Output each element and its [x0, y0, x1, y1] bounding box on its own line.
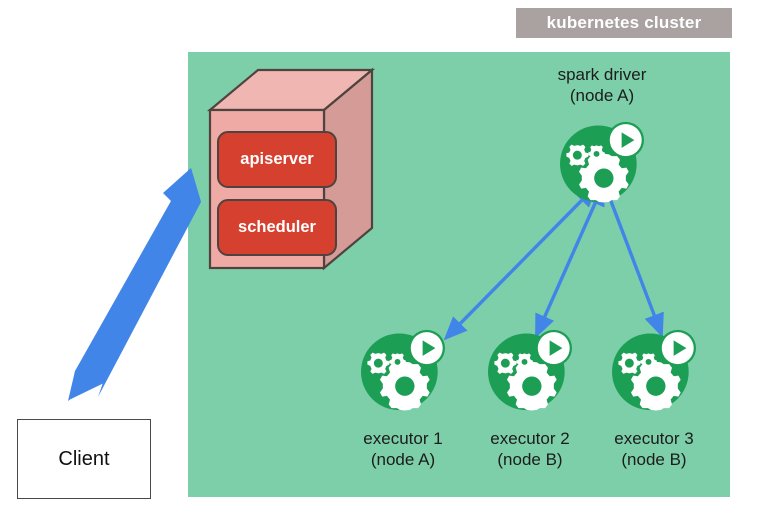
executor-2-pod[interactable]: [484, 328, 576, 412]
executor-1-pod[interactable]: [357, 328, 449, 412]
gears-play-pod-icon: [608, 328, 700, 412]
gears-play-pod-icon: [357, 328, 449, 412]
executor-2-node: (node B): [497, 450, 562, 469]
executor-3-name: executor 3: [614, 429, 693, 448]
executor-1-caption: executor 1(node A): [331, 428, 475, 470]
spark-submit-arrow-shape: [58, 165, 218, 410]
executor-3-pod[interactable]: [608, 328, 700, 412]
executor-1-node: (node A): [371, 450, 435, 469]
executor-3-caption: executor 3(node B): [582, 428, 726, 470]
client-box[interactable]: Client: [17, 419, 151, 499]
executor-3-node: (node B): [621, 450, 686, 469]
apiserver-component[interactable]: apiserver: [217, 131, 337, 188]
spark-driver-name: spark driver: [558, 65, 647, 84]
executor-2-caption: executor 2(node B): [458, 428, 602, 470]
gears-play-pod-icon: [484, 328, 576, 412]
spark-submit-arrow[interactable]: [58, 165, 218, 410]
executor-1-name: executor 1: [363, 429, 442, 448]
gears-play-pod-icon: [556, 120, 648, 204]
kubernetes-cluster-badge: kubernetes cluster: [516, 8, 732, 38]
spark-driver-pod[interactable]: [556, 120, 648, 204]
executor-2-name: executor 2: [490, 429, 569, 448]
control-plane-cube: apiserver scheduler: [200, 62, 372, 277]
scheduler-component[interactable]: scheduler: [217, 199, 337, 256]
diagram-canvas: kubernetes cluster apiserver scheduler: [0, 0, 761, 516]
spark-driver-node: (node A): [570, 86, 634, 105]
spark-driver-caption: spark driver(node A): [516, 64, 688, 106]
